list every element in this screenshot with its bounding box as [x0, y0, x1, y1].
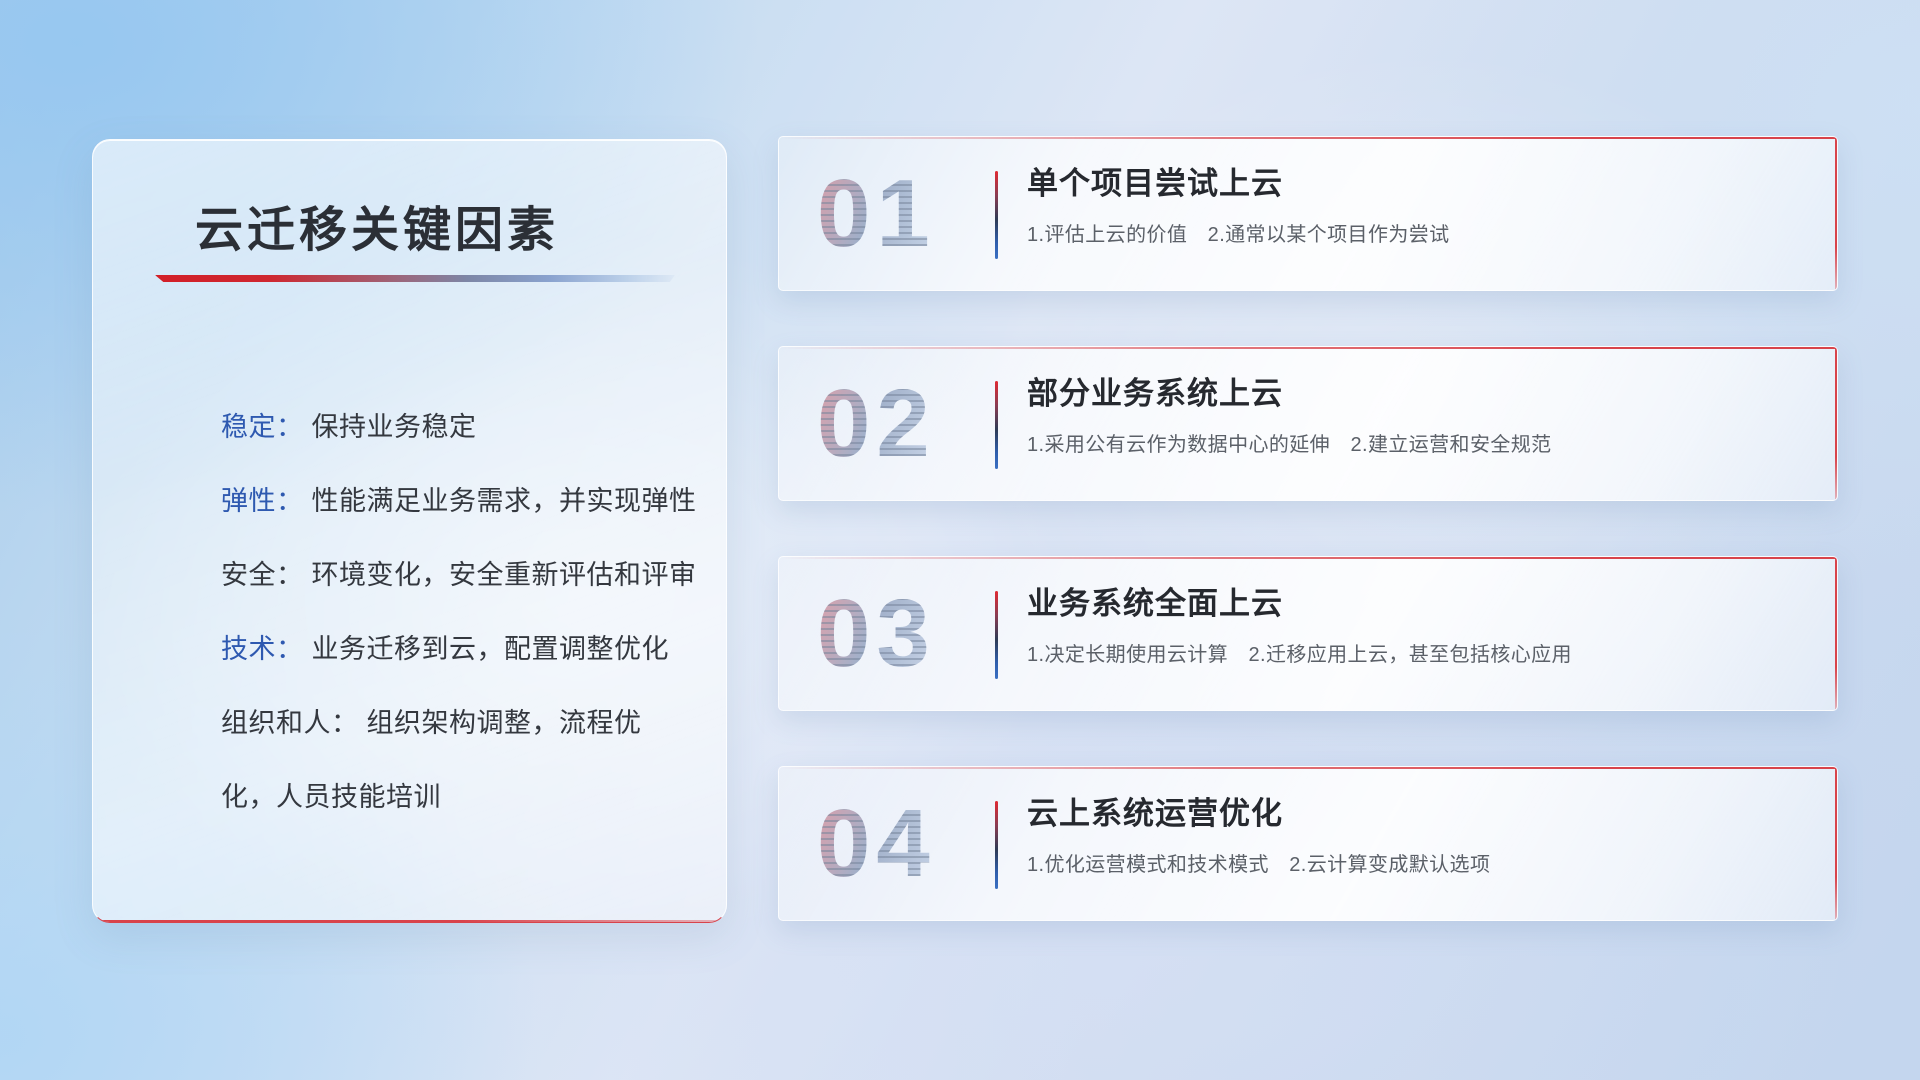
- step-subtitle: 1.优化运营模式和技术模式 2.云计算变成默认选项: [1027, 848, 1801, 877]
- key-factor-label: 组织和人：: [221, 708, 359, 738]
- key-factor-row: 稳定： 保持业务稳定: [221, 390, 686, 464]
- step-subtitle: 1.决定长期使用云计算 2.迁移应用上云，甚至包括核心应用: [1027, 638, 1801, 667]
- step-divider-bar: [995, 171, 998, 259]
- key-factor-label: 稳定：: [221, 412, 304, 442]
- step-body: 单个项目尝试上云1.评估上云的价值 2.通常以某个项目作为尝试: [1027, 165, 1801, 247]
- maturity-steps-list: 01单个项目尝试上云1.评估上云的价值 2.通常以某个项目作为尝试02部分业务系…: [778, 136, 1838, 976]
- step-subtitle: 1.采用公有云作为数据中心的延伸 2.建立运营和安全规范: [1027, 428, 1801, 457]
- key-factor-label: 安全：: [221, 560, 304, 590]
- key-factor-row: 弹性： 性能满足业务需求，并实现弹性: [221, 464, 686, 538]
- step-title: 部分业务系统上云: [1027, 375, 1801, 414]
- key-factor-text: 保持业务稳定: [312, 412, 477, 442]
- slide-stage: 云迁移关键因素 稳定： 保持业务稳定弹性： 性能满足业务需求，并实现弹性安全： …: [0, 0, 1920, 1080]
- maturity-step-card[interactable]: 04云上系统运营优化1.优化运营模式和技术模式 2.云计算变成默认选项: [778, 766, 1838, 921]
- step-body: 云上系统运营优化1.优化运营模式和技术模式 2.云计算变成默认选项: [1027, 795, 1801, 877]
- step-number: 03: [817, 586, 936, 682]
- step-divider-bar: [995, 381, 998, 469]
- step-title: 单个项目尝试上云: [1027, 165, 1801, 204]
- maturity-step-card[interactable]: 03业务系统全面上云1.决定长期使用云计算 2.迁移应用上云，甚至包括核心应用: [778, 556, 1838, 711]
- key-factor-row: 组织和人： 组织架构调整，流程优化，人员技能培训: [221, 686, 686, 834]
- key-factors-list: 稳定： 保持业务稳定弹性： 性能满足业务需求，并实现弹性安全： 环境变化，安全重…: [221, 390, 686, 834]
- key-factors-panel: 云迁移关键因素 稳定： 保持业务稳定弹性： 性能满足业务需求，并实现弹性安全： …: [92, 139, 727, 923]
- step-body: 业务系统全面上云1.决定长期使用云计算 2.迁移应用上云，甚至包括核心应用: [1027, 585, 1801, 667]
- key-factor-text: 性能满足业务需求，并实现弹性: [312, 486, 697, 516]
- step-divider-bar: [995, 801, 998, 889]
- step-title: 云上系统运营优化: [1027, 795, 1801, 834]
- step-number: 02: [817, 376, 936, 472]
- step-title: 业务系统全面上云: [1027, 585, 1801, 624]
- key-factor-text: 业务迁移到云，配置调整优化: [312, 634, 670, 664]
- page-title: 云迁移关键因素: [195, 190, 559, 260]
- maturity-step-card[interactable]: 01单个项目尝试上云1.评估上云的价值 2.通常以某个项目作为尝试: [778, 136, 1838, 291]
- key-factor-label: 技术：: [221, 634, 304, 664]
- step-number: 04: [817, 796, 936, 892]
- key-factor-label: 弹性：: [221, 486, 304, 516]
- step-subtitle: 1.评估上云的价值 2.通常以某个项目作为尝试: [1027, 218, 1801, 247]
- step-divider-bar: [995, 591, 998, 679]
- key-factor-text: 环境变化，安全重新评估和评审: [312, 560, 697, 590]
- title-underline-rule: [155, 275, 675, 282]
- key-factor-row: 安全： 环境变化，安全重新评估和评审: [221, 538, 686, 612]
- step-number: 01: [817, 166, 936, 262]
- step-body: 部分业务系统上云1.采用公有云作为数据中心的延伸 2.建立运营和安全规范: [1027, 375, 1801, 457]
- maturity-step-card[interactable]: 02部分业务系统上云1.采用公有云作为数据中心的延伸 2.建立运营和安全规范: [778, 346, 1838, 501]
- key-factor-row: 技术： 业务迁移到云，配置调整优化: [221, 612, 686, 686]
